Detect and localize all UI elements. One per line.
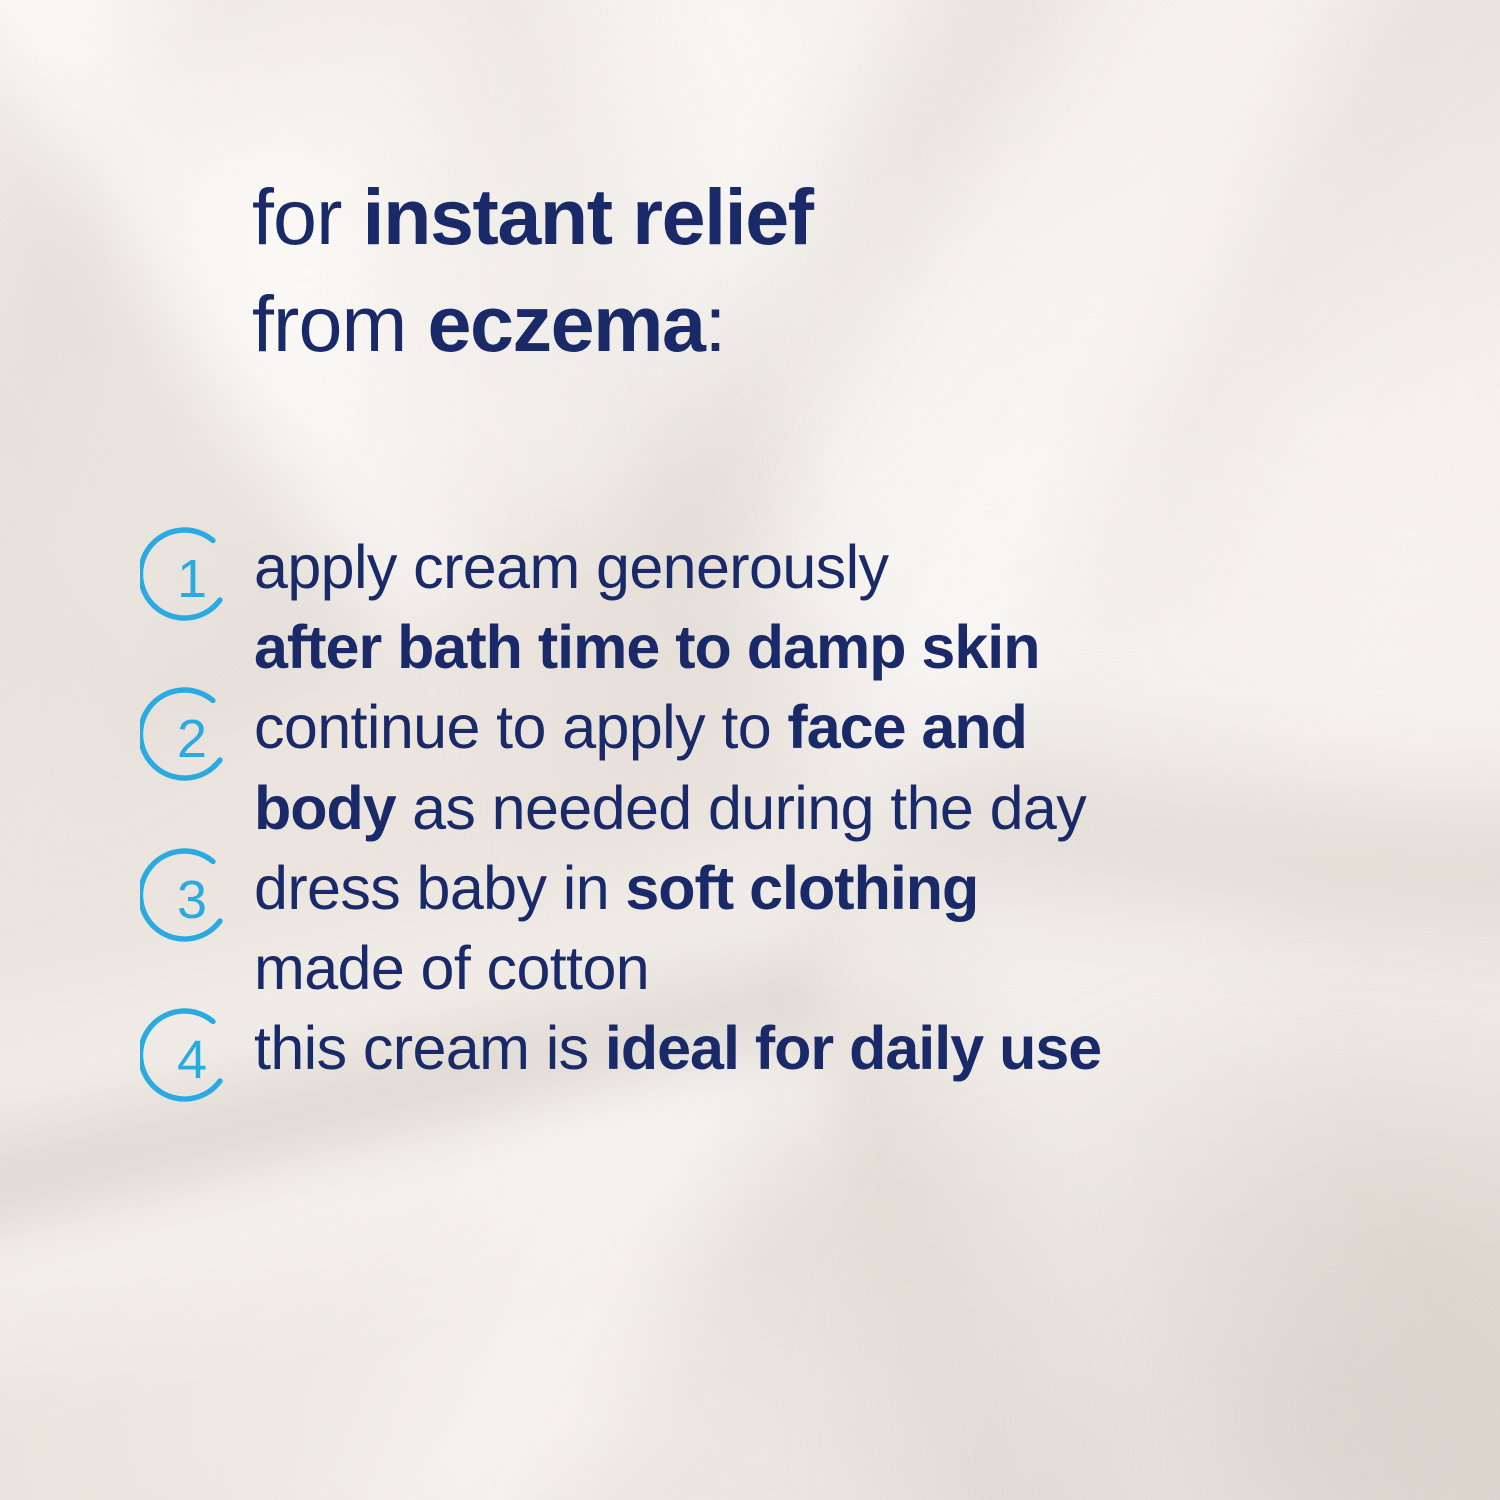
step-number: 4 (177, 1030, 207, 1090)
infographic-canvas: for instant relief from eczema: 1 apply … (0, 0, 1500, 1500)
open-arc-circle-icon: 3 (140, 848, 244, 952)
list-item-line-1: apply cream generously (254, 527, 1440, 607)
list-item: 1 apply cream generously after bath time… (0, 527, 1500, 687)
list-item-line-1: this cream is ideal for daily use (254, 1008, 1440, 1088)
list-item-line-1-plain: this cream is (254, 1014, 605, 1082)
list-item-line-1-emphasis: face and (787, 693, 1027, 761)
list-item-line-2-plain: made of cotton (254, 934, 649, 1002)
page-title: for instant relief from eczema: (252, 163, 813, 378)
page-title-line-2-tail: : (705, 279, 726, 368)
step-number: 1 (177, 549, 207, 609)
list-item: 4 this cream is ideal for daily use (0, 1008, 1500, 1116)
list-item: 2 continue to apply to face and body as … (0, 687, 1500, 847)
page-title-line-2-emphasis: eczema (427, 279, 704, 368)
open-arc-circle-icon: 4 (140, 1008, 244, 1112)
list-item-line-2: after bath time to damp skin (254, 607, 1440, 687)
list-item-text: continue to apply to face and body as ne… (254, 687, 1500, 847)
step-number: 2 (177, 709, 207, 769)
instruction-list: 1 apply cream generously after bath time… (0, 527, 1500, 1116)
list-item: 3 dress baby in soft clothing made of co… (0, 848, 1500, 1008)
page-title-line-1-plain: for (252, 172, 363, 261)
list-item-line-2-emphasis: body (254, 774, 396, 842)
page-title-line-2-plain: from (252, 279, 427, 368)
list-item-text: dress baby in soft clothing made of cott… (254, 848, 1500, 1008)
page-title-line-2: from eczema: (252, 270, 813, 377)
list-item-line-1-plain: continue to apply to (254, 693, 787, 761)
open-arc-circle-icon: 2 (140, 687, 244, 791)
list-item-line-1: continue to apply to face and (254, 687, 1440, 767)
list-item-line-2: made of cotton (254, 928, 1440, 1008)
list-item-line-1-emphasis: ideal for daily use (605, 1014, 1101, 1082)
list-item-line-1-emphasis: soft clothing (625, 854, 978, 922)
page-title-line-1: for instant relief (252, 163, 813, 270)
page-title-line-1-emphasis: instant relief (363, 172, 813, 261)
list-item-line-2-plain: as needed during the day (396, 774, 1086, 842)
content-layer: for instant relief from eczema: 1 apply … (0, 0, 1500, 1500)
open-arc-circle-icon: 1 (140, 527, 244, 631)
list-item-line-1-plain: dress baby in (254, 854, 625, 922)
list-item-text: this cream is ideal for daily use (254, 1008, 1500, 1088)
list-item-text: apply cream generously after bath time t… (254, 527, 1500, 687)
list-item-line-2-emphasis: after bath time to damp skin (254, 613, 1039, 681)
step-number: 3 (177, 870, 207, 930)
list-item-line-1-plain: apply cream generously (254, 533, 888, 601)
list-item-line-1: dress baby in soft clothing (254, 848, 1440, 928)
list-item-line-2: body as needed during the day (254, 768, 1440, 848)
